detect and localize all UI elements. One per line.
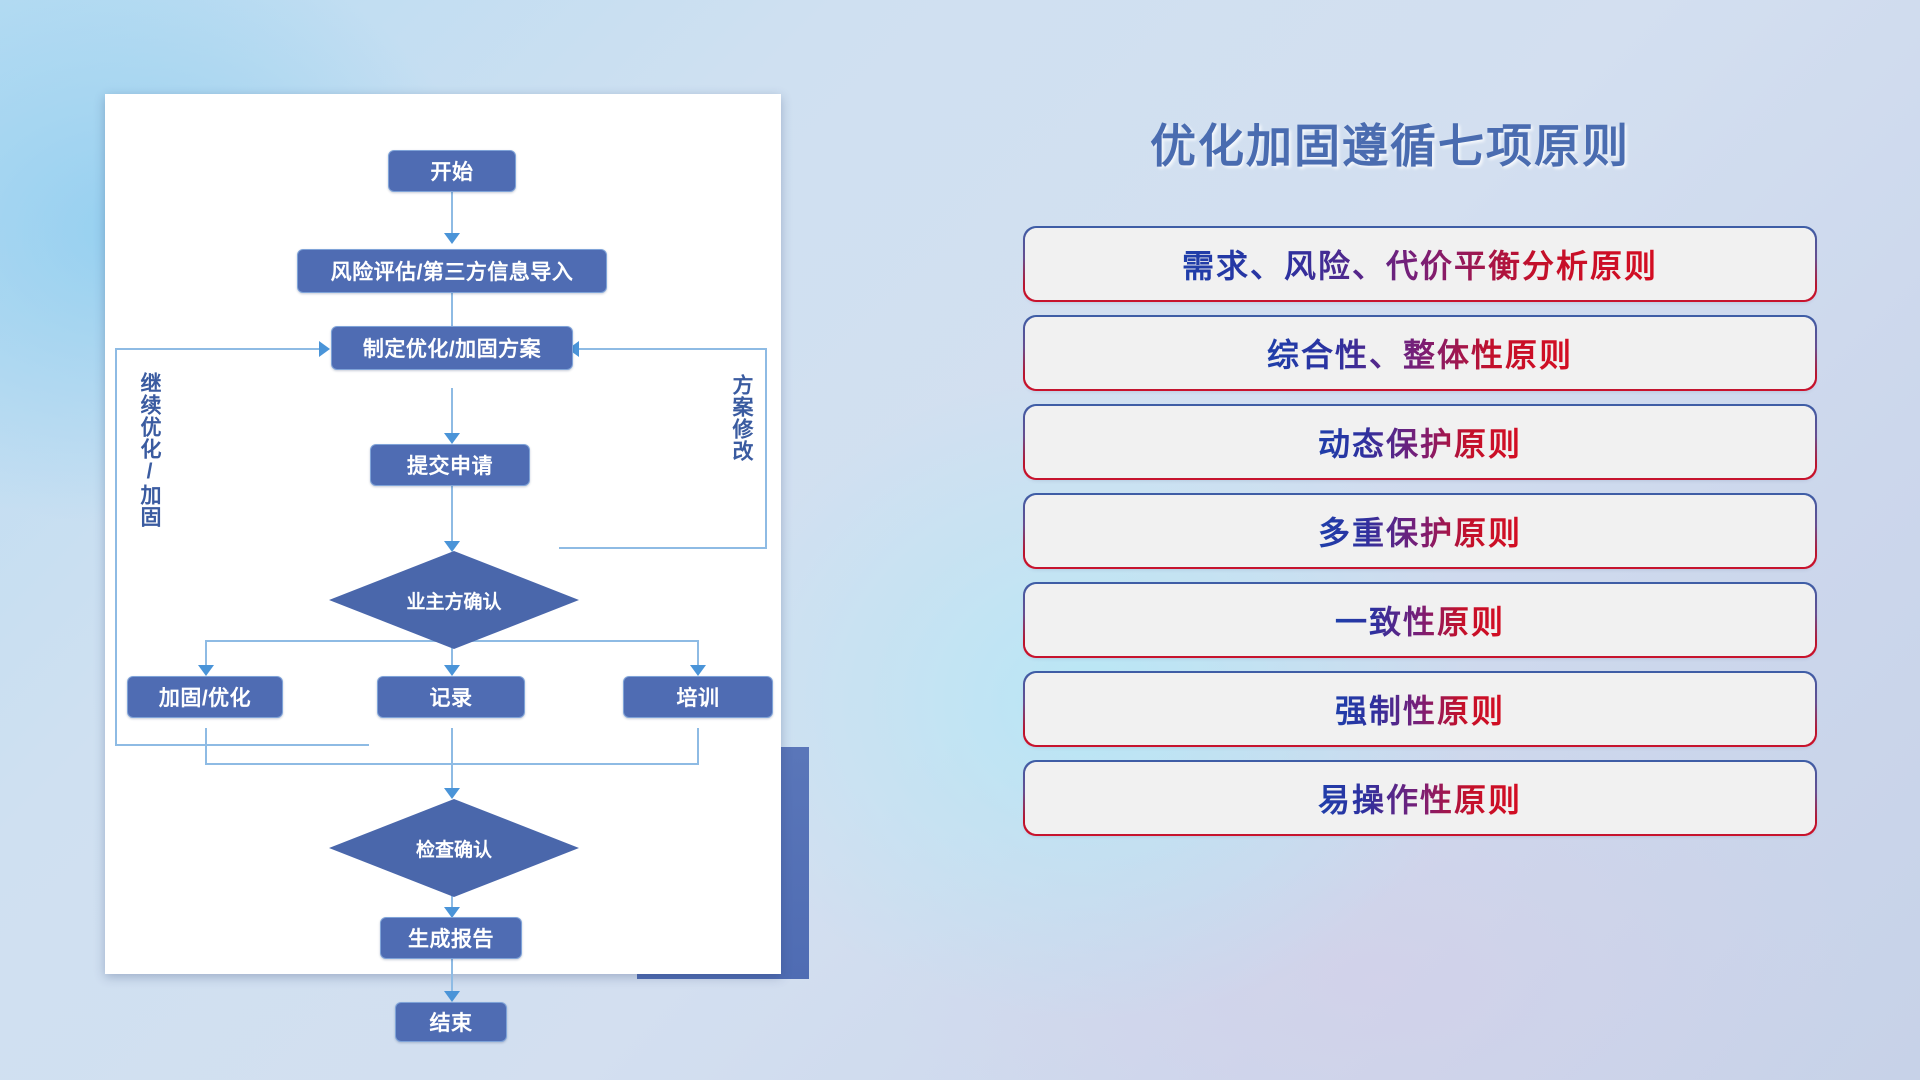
connector-right-up: [765, 348, 767, 549]
principle-card[interactable]: 综合性、整体性原则: [1025, 317, 1815, 389]
connector-reinforce-down: [205, 728, 207, 765]
connector-start-to-risk: [451, 191, 453, 237]
flow-node-submit-application[interactable]: 提交申请: [370, 444, 530, 486]
flow-node-start[interactable]: 开始: [388, 150, 516, 192]
arrow-report-to-end: [444, 991, 460, 1002]
arrow-left-into-plan: [319, 341, 330, 357]
connector-record-down: [451, 728, 453, 765]
flow-node-owner-confirm[interactable]: 业主方确认: [329, 551, 579, 649]
arrow-start-to-risk: [444, 233, 460, 244]
connector-submit-to-confirm: [451, 486, 453, 544]
principle-label: 强制性原则: [1335, 686, 1505, 732]
connector-check-left: [115, 744, 369, 746]
principle-card[interactable]: 易操作性原则: [1025, 762, 1815, 834]
connector-right-to-plan: [579, 348, 767, 350]
edge-label-continue-optimize: 继续优化/加固: [139, 372, 160, 528]
connector-branch-right-down: [697, 640, 699, 668]
principle-card[interactable]: 动态保护原则: [1025, 406, 1815, 478]
principles-list: 需求、风险、代价平衡分析原则 综合性、整体性原则 动态保护原则 多重保护原则 一…: [1025, 228, 1815, 851]
connector-left-up: [115, 348, 117, 746]
flow-node-reinforce-optimize[interactable]: 加固/优化: [127, 676, 283, 718]
principle-card[interactable]: 一致性原则: [1025, 584, 1815, 656]
connector-left-to-plan: [115, 348, 321, 350]
principle-label: 多重保护原则: [1318, 508, 1522, 554]
connector-report-to-end: [451, 958, 453, 994]
principle-label: 需求、风险、代价平衡分析原则: [1182, 241, 1658, 287]
flow-node-training[interactable]: 培训: [623, 676, 773, 718]
edge-label-plan-revision: 方案修改: [731, 374, 752, 462]
connector-confirm-right: [559, 547, 767, 549]
arrow-to-reinforce: [198, 665, 214, 676]
flowchart-panel: 开始 风险评估/第三方信息导入 制定优化/加固方案 提交申请 业主方确认 加固/…: [0, 0, 940, 1080]
arrow-to-record: [444, 665, 460, 676]
principle-label: 一致性原则: [1335, 597, 1505, 643]
flow-node-check-confirm[interactable]: 检查确认: [329, 799, 579, 897]
flow-node-record[interactable]: 记录: [377, 676, 525, 718]
arrow-submit-to-confirm: [444, 541, 460, 552]
flow-node-end[interactable]: 结束: [395, 1002, 507, 1042]
principles-panel: 优化加固遵循七项原则 需求、风险、代价平衡分析原则 综合性、整体性原则 动态保护…: [1000, 0, 1920, 1080]
arrow-plan-to-submit: [444, 433, 460, 444]
principle-label: 动态保护原则: [1318, 419, 1522, 465]
connector-branch-left-down: [205, 640, 207, 668]
flow-node-make-plan[interactable]: 制定优化/加固方案: [331, 326, 573, 370]
principles-title: 优化加固遵循七项原则: [1150, 110, 1630, 176]
connector-plan-to-submit: [451, 388, 453, 436]
principle-card[interactable]: 需求、风险、代价平衡分析原则: [1025, 228, 1815, 300]
flow-node-generate-report[interactable]: 生成报告: [380, 917, 522, 959]
flowchart-card: 开始 风险评估/第三方信息导入 制定优化/加固方案 提交申请 业主方确认 加固/…: [105, 94, 781, 974]
principle-label: 易操作性原则: [1318, 775, 1522, 821]
principle-label: 综合性、整体性原则: [1267, 330, 1573, 376]
connector-merge-to-check: [451, 763, 453, 791]
arrow-to-training: [690, 665, 706, 676]
arrow-merge-to-check: [444, 788, 460, 799]
connector-training-down: [697, 728, 699, 765]
principle-card[interactable]: 强制性原则: [1025, 673, 1815, 745]
flow-node-risk-assessment[interactable]: 风险评估/第三方信息导入: [297, 249, 607, 293]
principle-card[interactable]: 多重保护原则: [1025, 495, 1815, 567]
